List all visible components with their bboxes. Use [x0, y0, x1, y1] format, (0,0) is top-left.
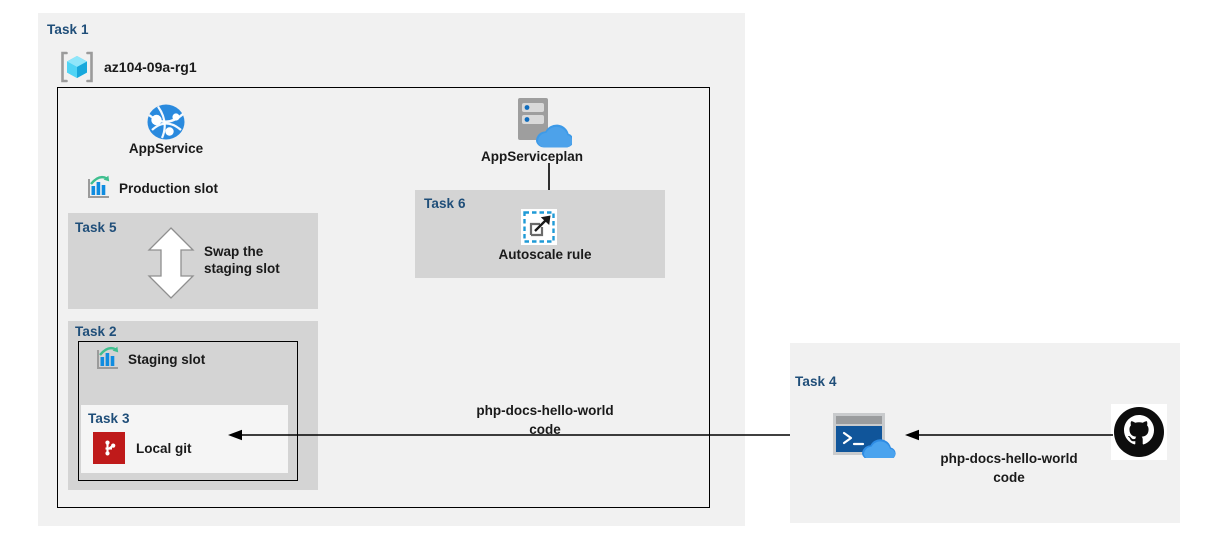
- production-slot-row: Production slot: [86, 175, 218, 201]
- cloud-shell-icon: [832, 412, 898, 463]
- local-git-label: Local git: [136, 441, 192, 456]
- app-service-plan-label: AppServiceplan: [470, 149, 594, 164]
- task1-label: Task 1: [47, 22, 89, 37]
- task4-label-line2: code: [993, 470, 1025, 485]
- github-to-cloud-shell-arrow: [905, 428, 1113, 447]
- swap-text-line2: staging slot: [204, 261, 280, 276]
- resource-group-row: az104-09a-rg1: [60, 51, 197, 83]
- swap-instruction-text: Swap the staging slot: [204, 243, 280, 277]
- task2-label: Task 2: [75, 324, 117, 339]
- app-service-plan-icon: [512, 96, 572, 153]
- github-to-local-git-arrow: [228, 428, 818, 447]
- task4-label-line1: php-docs-hello-world: [940, 451, 1077, 466]
- autoscale-icon: [521, 209, 557, 250]
- app-service-label: AppService: [120, 141, 212, 156]
- production-slot-label: Production slot: [119, 181, 218, 196]
- app-service-icon: [145, 103, 187, 146]
- center-flow-label-line1: php-docs-hello-world: [476, 403, 613, 418]
- autoscale-rule-label: Autoscale rule: [466, 247, 624, 262]
- staging-slot-row: Staging slot: [95, 346, 205, 372]
- git-icon: [93, 432, 125, 464]
- swap-up-down-arrow-icon: [146, 226, 196, 305]
- deployment-slot-icon: [95, 346, 121, 372]
- task4-arrow-label: php-docs-hello-world code: [925, 449, 1093, 487]
- task3-label: Task 3: [88, 411, 130, 426]
- local-git-row: Local git: [93, 432, 192, 464]
- task5-label: Task 5: [75, 220, 117, 235]
- resource-group-icon: [60, 51, 94, 83]
- deployment-slot-icon: [86, 175, 112, 201]
- task4-label: Task 4: [795, 374, 837, 389]
- swap-text-line1: Swap the: [204, 244, 263, 259]
- github-icon: [1111, 404, 1167, 465]
- task6-label: Task 6: [424, 196, 466, 211]
- staging-slot-label: Staging slot: [128, 352, 205, 367]
- resource-group-name: az104-09a-rg1: [104, 59, 197, 75]
